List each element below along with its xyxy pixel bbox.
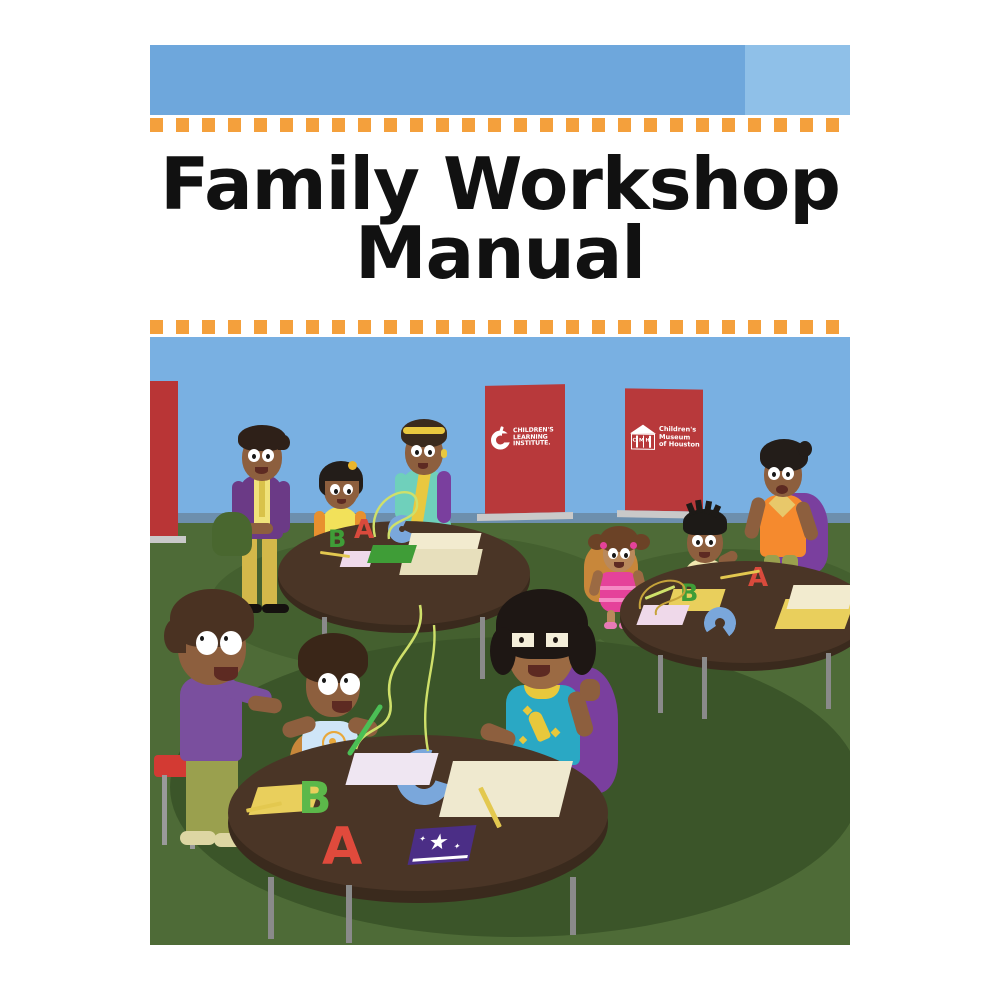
house-letter-h: H (646, 438, 650, 444)
dash-segment (150, 320, 163, 334)
dash-segment (566, 118, 579, 132)
title-line-1: Family Workshop (150, 150, 850, 219)
dash-segment (228, 320, 241, 334)
dash-segment (722, 320, 735, 334)
dash-segment (696, 118, 709, 132)
foam-letter-b: B (328, 527, 346, 551)
header-band (150, 45, 850, 115)
dash-segment (384, 118, 397, 132)
dash-segment (826, 320, 839, 334)
dash-segment (566, 320, 579, 334)
foam-letter-a: A (322, 821, 362, 873)
dash-segment (488, 320, 501, 334)
cover-page: Family Workshop Manual CHILDREN'S LEARNI… (0, 0, 1000, 1000)
house-letter-m: M (639, 438, 644, 444)
banner-childrens-learning-institute: CHILDREN'S LEARNING INSTITUTE. (485, 384, 565, 514)
cover-illustration: CHILDREN'S LEARNING INSTITUTE. C M H (150, 337, 850, 945)
dash-segment (202, 320, 215, 334)
house-letter-c: C (633, 437, 637, 443)
dash-segment (592, 320, 605, 334)
string-loop (365, 477, 435, 547)
dash-segment (176, 118, 189, 132)
title-line-2: Manual (150, 219, 850, 288)
dash-segment (644, 320, 657, 334)
dash-segment (748, 320, 761, 334)
string-loop (634, 569, 704, 619)
banner-base (150, 536, 186, 543)
banner-left-edge (150, 381, 178, 536)
dash-segment (540, 320, 553, 334)
dash-segment (670, 320, 683, 334)
dash-segment (436, 118, 449, 132)
foam-letter-b: B (298, 777, 332, 821)
dash-segment (800, 320, 813, 334)
dashed-rule-top (150, 118, 850, 132)
cmh-logo: C M H Children's Museum of Houston (630, 424, 700, 450)
dashed-rule-bottom (150, 320, 850, 334)
dash-segment (592, 118, 605, 132)
dash-segment (410, 118, 423, 132)
banner-childrens-museum-of-houston: C M H Children's Museum of Houston (625, 388, 703, 511)
dash-segment (618, 118, 631, 132)
dash-segment (202, 118, 215, 132)
eyeglasses (510, 631, 572, 649)
cmh-wordmark: Children's Museum of Houston (659, 426, 700, 450)
dash-segment (644, 118, 657, 132)
dash-segment (722, 118, 735, 132)
cli-logo: CHILDREN'S LEARNING INSTITUTE. (491, 426, 561, 449)
dash-segment (670, 118, 683, 132)
dash-segment (384, 320, 397, 334)
dash-segment (514, 320, 527, 334)
dash-segment (410, 320, 423, 334)
dash-segment (514, 118, 527, 132)
dash-segment (332, 320, 345, 334)
dash-segment (150, 118, 163, 132)
dash-segment (280, 118, 293, 132)
dash-segment (280, 320, 293, 334)
dash-segment (306, 320, 319, 334)
dash-segment (826, 118, 839, 132)
dash-segment (696, 320, 709, 334)
cli-wordmark: CHILDREN'S LEARNING INSTITUTE. (513, 427, 554, 449)
dash-segment (462, 118, 475, 132)
dash-segment (358, 118, 371, 132)
dash-segment (436, 320, 449, 334)
dash-segment (800, 118, 813, 132)
dash-segment (254, 118, 267, 132)
dash-segment (254, 320, 267, 334)
dash-segment (488, 118, 501, 132)
dash-segment (540, 118, 553, 132)
apple-c-icon (491, 427, 510, 449)
dash-segment (774, 320, 787, 334)
dash-segment (462, 320, 475, 334)
house-icon: C M H (630, 424, 656, 449)
dash-segment (748, 118, 761, 132)
dash-segment (332, 118, 345, 132)
chair-green (212, 512, 252, 556)
dash-segment (228, 118, 241, 132)
header-band-light (745, 45, 850, 115)
dash-segment (176, 320, 189, 334)
page-title: Family Workshop Manual (150, 150, 850, 288)
dash-segment (358, 320, 371, 334)
dash-segment (774, 118, 787, 132)
cmh-line-3: of Houston (659, 441, 700, 450)
header-band-main (150, 45, 745, 115)
cli-line-3: INSTITUTE. (513, 441, 554, 449)
star-notebook: ★ ✦ ✦ (408, 825, 477, 865)
dash-segment (618, 320, 631, 334)
dash-segment (306, 118, 319, 132)
string-wand (332, 599, 442, 759)
